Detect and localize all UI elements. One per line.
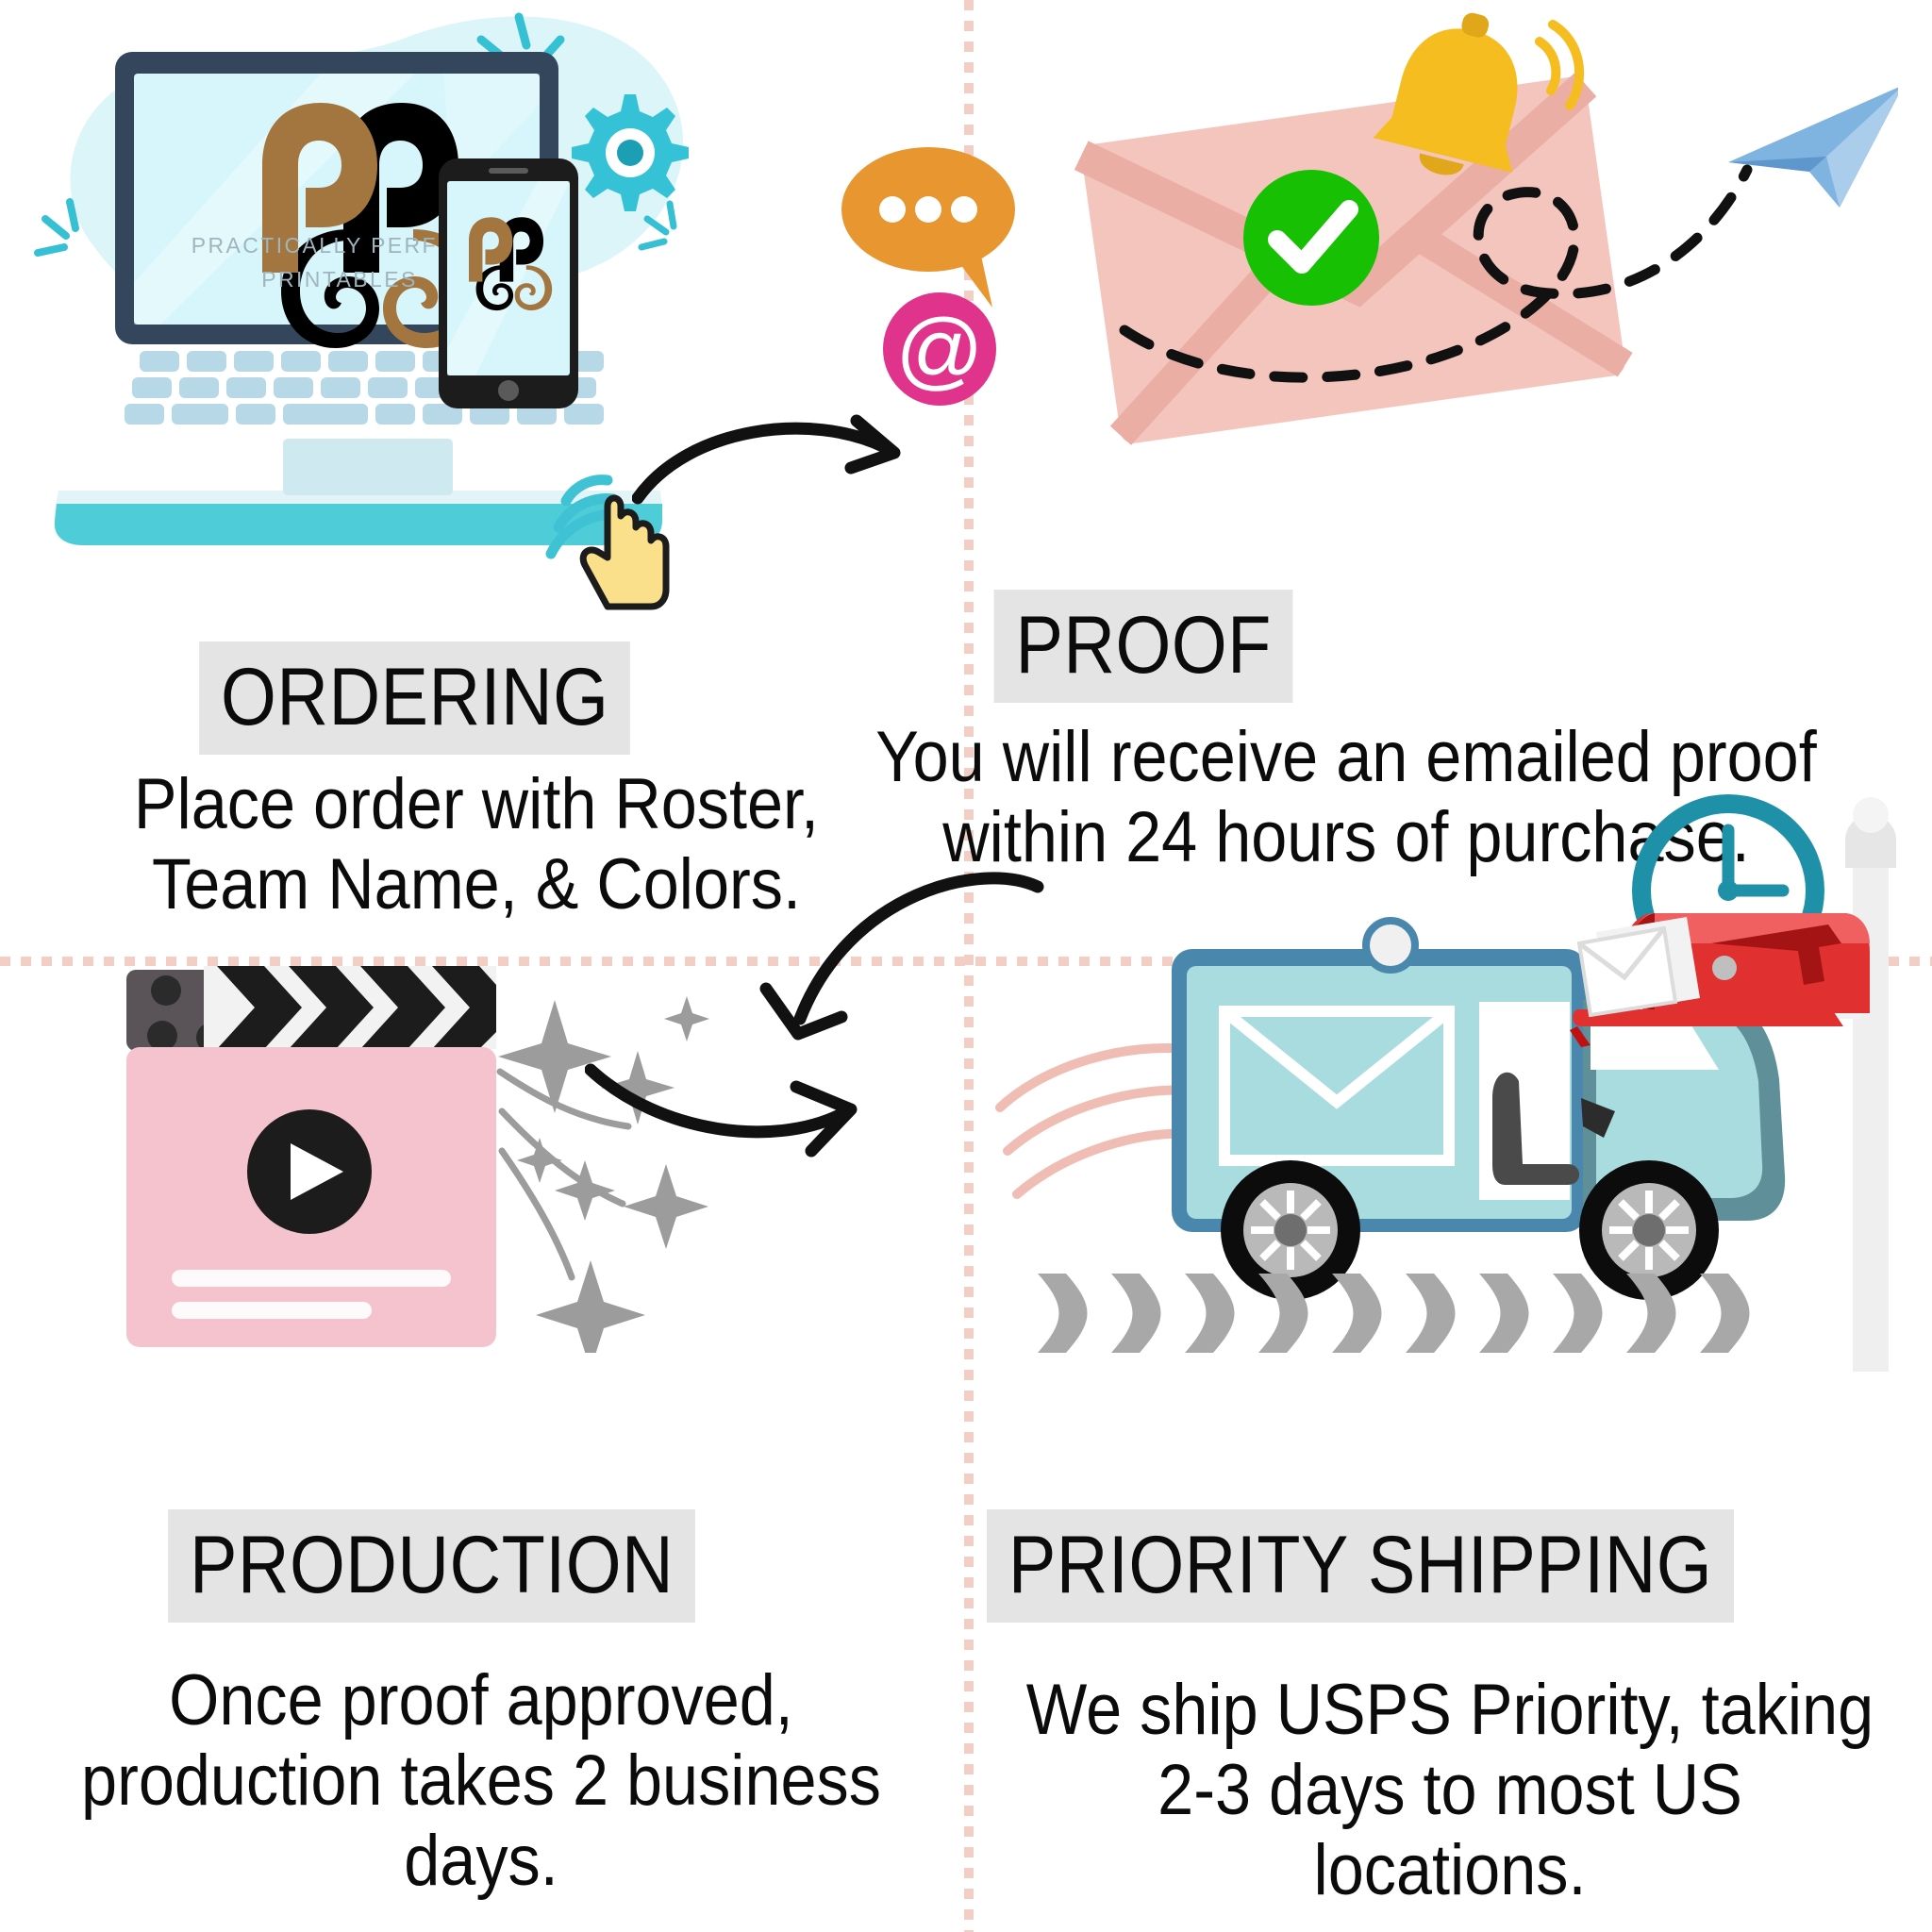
step-heading-wrap-ordering: ORDERING (170, 641, 659, 755)
at-sign-icon: @ (883, 292, 996, 406)
step-heading-ordering: ORDERING (199, 641, 630, 755)
sparkle-icon (38, 202, 75, 253)
speed-lines (1000, 1048, 1196, 1194)
check-circle-icon (1243, 170, 1379, 306)
step-heading-shipping: PRIORITY SHIPPING (987, 1509, 1734, 1623)
brand-name-line2: PRINTABLES (261, 267, 417, 291)
step-body-production: Once proof approved, production takes 2 … (57, 1660, 906, 1901)
step-heading-proof: PROOF (994, 590, 1293, 703)
step-heading-production: PRODUCTION (168, 1509, 695, 1623)
motion-chevrons (1038, 1274, 1750, 1353)
email-envelope-illustration: @ (785, 9, 1898, 462)
step-panel-shipping: PRIORITY SHIPPING We ship USPS Priority,… (974, 966, 1932, 1932)
sparkle-icon (498, 996, 709, 1353)
chat-bubble-icon (841, 147, 1015, 308)
gear-icon (572, 94, 689, 211)
step-heading-wrap-proof: PROOF (974, 590, 1313, 703)
step-heading-wrap-shipping: PRIORITY SHIPPING (936, 1509, 1785, 1623)
paper-plane-icon (1728, 85, 1898, 208)
infographic-root: PRACTICALLY PERFECT PRINTABLES (0, 0, 1932, 1932)
svg-text:@: @ (895, 302, 983, 398)
step-heading-wrap-production: PRODUCTION (132, 1509, 731, 1623)
step-body-shipping: We ship USPS Priority, taking 2-3 days t… (1022, 1670, 1879, 1910)
delivery-truck-and-mailbox-illustration (766, 787, 1932, 1372)
